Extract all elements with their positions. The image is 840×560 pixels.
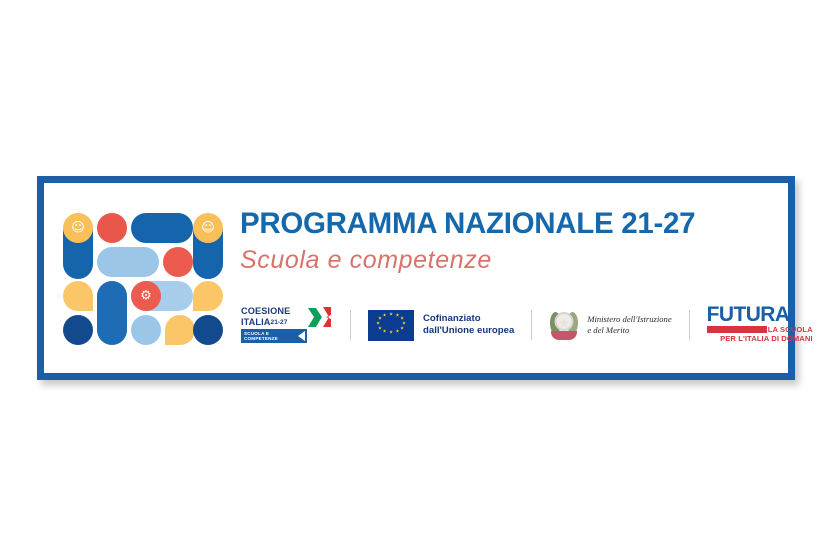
page-subtitle: Scuola e competenze (240, 246, 780, 275)
mosaic-tile (97, 281, 127, 345)
mosaic-logo: ☺ ☺ ⚙ (63, 211, 223, 349)
divider (689, 310, 690, 340)
ministry-logo: ★ Ministero dell'Istruzione e del Merito (549, 309, 671, 341)
eu-star-icon: ★ (378, 328, 382, 333)
divider (350, 310, 351, 340)
mosaic-tile (193, 281, 223, 311)
eu-star-icon: ★ (378, 318, 382, 323)
coesione-years: 21-27 (271, 319, 288, 326)
eu-star-icon: ★ (395, 330, 399, 335)
person-icon: ☺ (201, 222, 215, 235)
star-icon: ★ (558, 317, 571, 331)
ribbon-icon (551, 331, 577, 340)
eu-star-icon: ★ (382, 315, 386, 320)
eu-star-icon: ★ (389, 314, 393, 319)
coesione-wordmark: COESIONE ITALIA21-27 (241, 306, 303, 328)
coesione-italia-word: ITALIA (241, 317, 271, 327)
logo-strip: COESIONE ITALIA21-27 SCUOLA E COMPETENZE (241, 301, 813, 349)
banner-inner: ☺ ☺ ⚙ PROGRA (44, 183, 788, 373)
mosaic-tile (131, 213, 193, 243)
mosaic-tile-person-left: ☺ (63, 213, 93, 243)
eu-cofinancing-logo: ★ ★ ★ ★ ★ ★ ★ ★ ★ ★ ★ ★ Cofinanziato dal… (368, 310, 514, 341)
eu-star-icon: ★ (389, 331, 393, 336)
coesione-line1: COESIONE (241, 306, 303, 317)
eu-flag-icon: ★ ★ ★ ★ ★ ★ ★ ★ ★ ★ ★ ★ (368, 310, 414, 341)
person-icon: ☺ (71, 222, 85, 235)
mosaic-tile (63, 281, 93, 311)
eu-star-icon: ★ (400, 328, 404, 333)
banner-text-block: PROGRAMMA NAZIONALE 21-27 Scuola e compe… (240, 209, 780, 275)
mosaic-tile-gear: ⚙ (131, 281, 161, 311)
mosaic-tile (131, 315, 161, 345)
futura-tag-line1: LA SCUOLA (707, 325, 813, 334)
mosaic-tile-person-right: ☺ (193, 213, 223, 243)
mosaic-tile (165, 315, 195, 345)
eu-star-icon: ★ (395, 315, 399, 320)
mosaic-tile (63, 315, 93, 345)
eu-text-line1: Cofinanziato (423, 313, 514, 325)
divider (531, 310, 532, 340)
ministry-logo-text: Ministero dell'Istruzione e del Merito (587, 314, 671, 336)
gear-icon: ⚙ (140, 290, 152, 303)
arrow-left-icon (298, 331, 305, 341)
coesione-subbanner: SCUOLA E COMPETENZE (241, 329, 307, 343)
mosaic-tile (193, 315, 223, 345)
futura-wordmark: FUTURA (707, 304, 813, 325)
italy-flag-arrow-icon (305, 305, 333, 331)
coesione-italia-logo: COESIONE ITALIA21-27 SCUOLA E COMPETENZE (241, 305, 333, 345)
eu-logo-text: Cofinanziato dall'Unione europea (423, 313, 514, 336)
mosaic-tile (97, 247, 159, 277)
italian-republic-emblem-icon: ★ (549, 309, 579, 341)
page-title: PROGRAMMA NAZIONALE 21-27 (240, 209, 780, 240)
eu-star-icon: ★ (382, 330, 386, 335)
futura-logo: FUTURA LA SCUOLA PER L'ITALIA DI DOMANI (707, 304, 813, 346)
ministry-text-line1: Ministero dell'Istruzione (587, 314, 671, 325)
ministry-text-line2: e del Merito (587, 325, 671, 336)
eu-text-line2: dall'Unione europea (423, 325, 514, 337)
futura-tag-line2: PER L'ITALIA DI DOMANI (707, 334, 813, 343)
mosaic-tile (163, 247, 193, 277)
mosaic-tile (97, 213, 127, 243)
coesione-line2: ITALIA21-27 (241, 317, 303, 329)
programma-nazionale-banner: ☺ ☺ ⚙ PROGRA (37, 176, 795, 380)
futura-tagline: LA SCUOLA PER L'ITALIA DI DOMANI (707, 325, 813, 343)
eu-star-icon: ★ (376, 323, 380, 328)
